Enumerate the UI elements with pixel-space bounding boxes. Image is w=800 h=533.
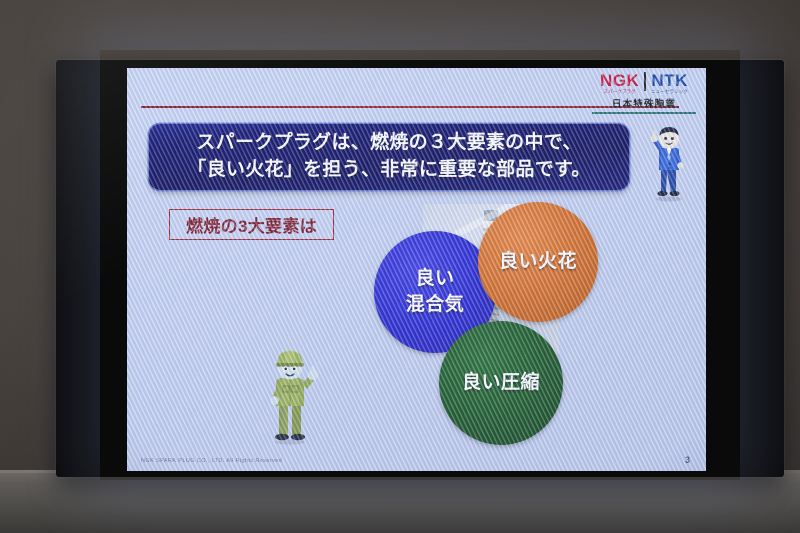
ngk-ntk-logo: NGK スパークプラグ NTK ニューセラミック 日本特殊陶業 [592,72,696,114]
logo-underline [592,112,696,114]
circle-mixture-line-2: 混合気 [406,292,465,318]
ntk-wordmark: NTK [651,72,687,89]
mechanic-character [255,340,325,446]
table-surface [0,470,800,533]
circle-spark-line-1: 良い火花 [499,249,577,275]
television[interactable]: NGK スパークプラグ NTK ニューセラミック 日本特殊陶業 スパークプラグは… [56,60,784,477]
logo-marks: NGK スパークプラグ NTK ニューセラミック [592,72,696,94]
footer-page-number: 3 [685,455,690,465]
ntk-subtitle: ニューセラミック [651,90,688,94]
ngk-wordmark: NGK [600,72,639,89]
caption-label: 燃焼の3大要素は [186,212,317,237]
circle-compression-line-1: 良い圧縮 [462,370,540,396]
headline-line-2: 「良い火花」を担う、非常に重要な部品です。 [187,157,590,184]
footer-copyright: NGK SPARK PLUG CO., LTD. All Rights Rese… [141,458,282,464]
circle-good-spark: 良い火花 [478,202,598,322]
headline-line-1: スパークプラグは、燃焼の３大要素の中で、 [196,130,581,157]
ngk-mark-group: NGK スパークプラグ [597,72,642,94]
caption-box: 燃焼の3大要素は [169,209,334,240]
headline-banner: スパークプラグは、燃焼の３大要素の中で、 「良い火花」を担う、非常に重要な部品で… [149,124,629,190]
presentation-slide: NGK スパークプラグ NTK ニューセラミック 日本特殊陶業 スパークプラグは… [127,68,706,471]
logo-divider [644,72,646,91]
company-name-jp: 日本特殊陶業 [592,96,696,110]
ngk-subtitle: スパークプラグ [604,90,636,94]
ntk-mark-group: NTK ニューセラミック [648,72,691,94]
businessman-character [638,120,700,202]
circle-mixture-line-1: 良い [415,266,454,292]
circle-good-compression: 良い圧縮 [439,321,563,445]
